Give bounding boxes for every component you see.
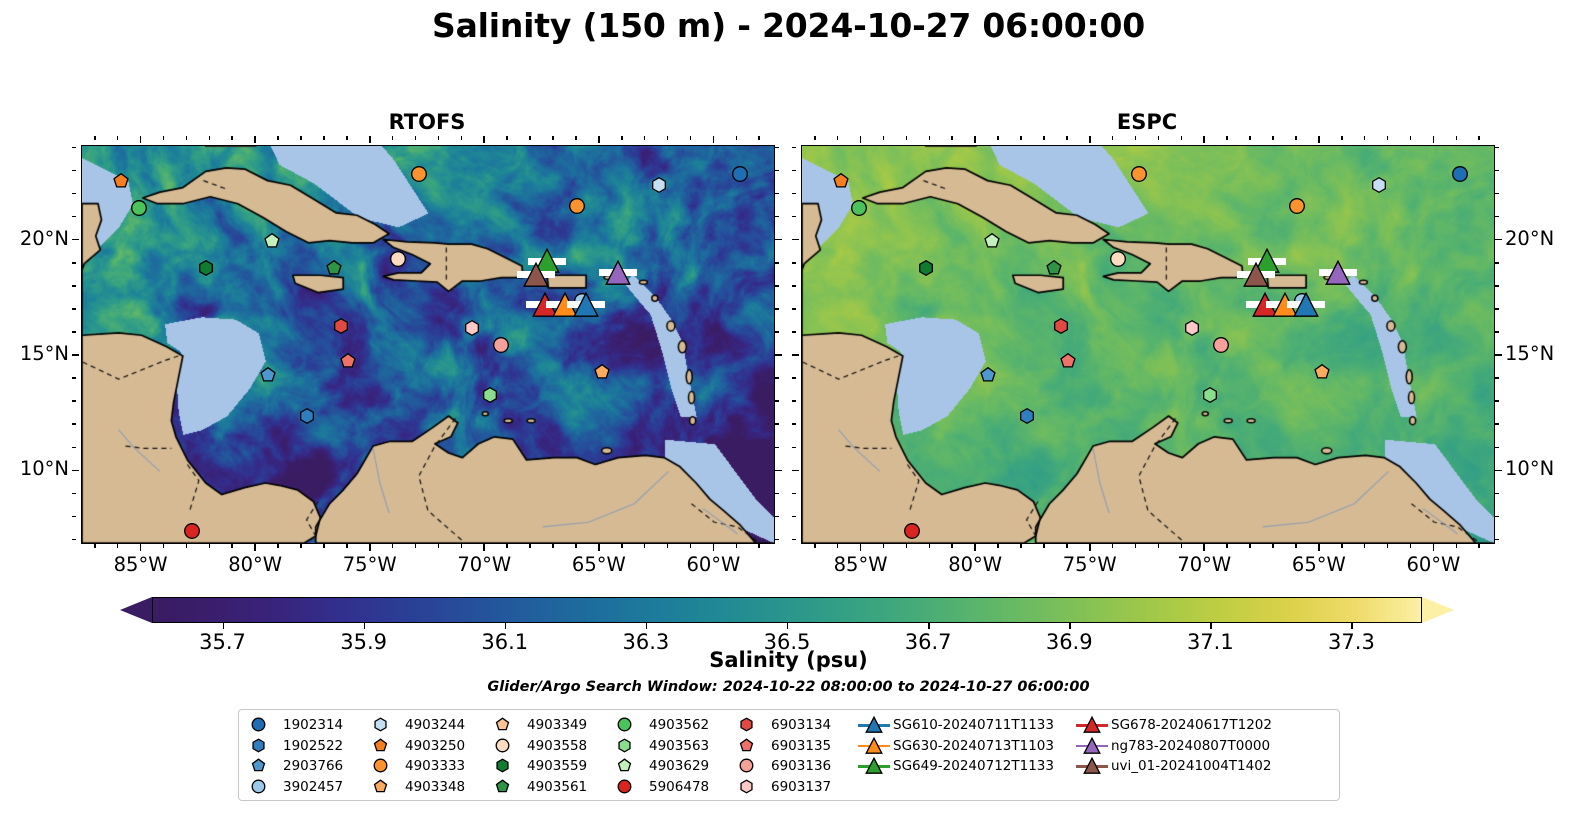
legend-item[interactable]: 4903561 [491, 777, 613, 798]
argo-marker[interactable] [979, 366, 996, 383]
y-tick-rtofs [72, 400, 76, 402]
x-tick-espc [997, 544, 999, 548]
figure-title: Salinity (150 m) - 2024-10-27 06:00:00 [0, 6, 1577, 45]
y-tick-espc [792, 170, 796, 172]
legend-label: 4903348 [403, 779, 465, 795]
glider-marker[interactable] [1243, 262, 1269, 288]
legend-item[interactable]: 4903348 [369, 777, 491, 798]
x-tick-rtofs [598, 544, 600, 551]
x-tick-top-rtofs [552, 136, 554, 140]
y-tick-rtofs [72, 447, 76, 449]
glider-marker[interactable] [1325, 260, 1351, 286]
legend-item[interactable]: 4903629 [613, 756, 735, 777]
x-tick-rtofs [369, 544, 371, 551]
y-tick-rtofs [72, 423, 76, 425]
x-tick-top-rtofs [598, 136, 600, 143]
colorbar-tick [1351, 623, 1352, 629]
x-tick-top-rtofs [667, 136, 669, 140]
x-tick-label-rtofs: 65°W [554, 553, 644, 576]
x-tick-espc [1158, 544, 1160, 548]
y-tick-right-espc [1495, 285, 1499, 287]
panel-title-rtofs: RTOFS [81, 110, 773, 134]
x-tick-rtofs [575, 544, 577, 548]
y-tick-espc [792, 516, 796, 518]
argo-marker[interactable] [568, 198, 585, 215]
y-tick-rtofs [72, 516, 76, 518]
y-tick-espc [792, 400, 796, 402]
glider-marker[interactable] [573, 292, 599, 318]
y-tick-right-rtofs [775, 147, 779, 149]
legend-column: SG610-20240711T1133SG630-20240713T1103SG… [857, 715, 1075, 797]
y-tick-right-rtofs [775, 377, 779, 379]
legend-label: 4903349 [525, 717, 587, 733]
argo-legend-marker [491, 756, 525, 776]
y-tick-right-espc [1495, 331, 1499, 333]
x-tick-espc [951, 544, 953, 548]
y-tick-right-espc [1495, 400, 1499, 402]
y-tick-espc [792, 354, 799, 356]
argo-legend-marker [491, 777, 525, 797]
x-tick-rtofs [713, 544, 715, 551]
x-tick-espc [1410, 544, 1412, 548]
legend-label: ng783-20240807T0000 [1109, 738, 1270, 754]
x-tick-rtofs [300, 544, 302, 548]
x-tick-rtofs [690, 544, 692, 548]
legend-label: SG649-20240712T1133 [891, 758, 1054, 774]
x-tick-label-rtofs: 60°W [668, 553, 758, 576]
legend-label: uvi_01-20241004T1402 [1109, 758, 1271, 774]
legend-label: SG610-20240711T1133 [891, 717, 1054, 733]
x-tick-espc [860, 544, 862, 551]
x-tick-top-rtofs [300, 136, 302, 140]
y-tick-right-espc [1495, 516, 1499, 518]
argo-marker[interactable] [298, 408, 315, 425]
x-tick-top-espc [1112, 136, 1114, 140]
argo-legend-marker [491, 736, 525, 756]
y-tick-espc [792, 493, 796, 495]
x-tick-rtofs [231, 544, 233, 548]
legend-label: 1902314 [281, 717, 343, 733]
argo-legend-marker [735, 756, 769, 776]
x-tick-top-espc [837, 136, 839, 140]
argo-legend-marker [369, 777, 403, 797]
x-tick-top-rtofs [369, 136, 371, 143]
argo-legend-marker [613, 736, 647, 756]
y-tick-rtofs [72, 147, 76, 149]
legend-label: 1902522 [281, 738, 343, 754]
x-tick-top-espc [1043, 136, 1045, 140]
y-tick-label-espc: 15°N [1505, 342, 1554, 365]
legend-label: 4903629 [647, 758, 709, 774]
argo-marker[interactable] [1201, 387, 1218, 404]
y-tick-right-rtofs [775, 170, 779, 172]
y-tick-label-rtofs: 20°N [0, 227, 69, 250]
argo-marker[interactable] [410, 165, 427, 182]
x-tick-top-espc [1410, 136, 1412, 140]
x-tick-rtofs [644, 544, 646, 548]
x-tick-rtofs [186, 544, 188, 548]
y-tick-espc [792, 147, 796, 149]
x-tick-rtofs [667, 544, 669, 548]
legend-column: 4903349490355849035594903561 [491, 715, 613, 797]
y-tick-right-espc [1495, 423, 1499, 425]
x-tick-espc [1318, 544, 1320, 551]
x-tick-espc [1364, 544, 1366, 548]
argo-marker[interactable] [332, 318, 349, 335]
x-tick-label-rtofs: 70°W [439, 553, 529, 576]
argo-marker[interactable] [326, 260, 343, 277]
y-tick-label-espc: 20°N [1505, 227, 1554, 250]
legend-column: SG678-20240617T1202ng783-20240807T0000uv… [1075, 715, 1287, 797]
argo-marker[interactable] [112, 172, 129, 189]
argo-legend-marker [247, 777, 281, 797]
y-tick-rtofs [72, 377, 76, 379]
y-tick-espc [792, 285, 796, 287]
legend-item[interactable]: 6903134 [735, 715, 857, 736]
y-tick-espc [792, 331, 796, 333]
legend-label: 4903559 [525, 758, 587, 774]
y-tick-espc [792, 377, 796, 379]
colorbar[interactable]: 35.735.936.136.336.536.736.937.137.3 [120, 597, 1454, 623]
colorbar-tick [223, 623, 224, 629]
legend-item[interactable]: 5906478 [613, 777, 735, 798]
colorbar-tick [505, 623, 506, 629]
x-tick-rtofs [277, 544, 279, 548]
colorbar-tick [1069, 623, 1070, 629]
legend-label: 4903333 [403, 758, 465, 774]
x-tick-espc [883, 544, 885, 548]
glider-legend-marker [1075, 736, 1109, 756]
argo-marker[interactable] [339, 352, 356, 369]
legend-item[interactable]: ng783-20240807T0000 [1075, 736, 1287, 757]
legend-item[interactable]: 4903244 [369, 715, 491, 736]
legend-item[interactable]: 1902522 [247, 736, 369, 757]
y-tick-right-espc [1495, 170, 1499, 172]
map-panel-rtofs[interactable] [81, 145, 775, 544]
argo-legend-marker [491, 715, 525, 735]
glider-legend-marker [1075, 756, 1109, 776]
x-tick-espc [1020, 544, 1022, 548]
argo-legend-marker [247, 715, 281, 735]
map-panel-espc[interactable] [801, 145, 1495, 544]
y-tick-rtofs [72, 239, 79, 241]
x-tick-rtofs [552, 544, 554, 548]
legend-item[interactable]: 4903250 [369, 736, 491, 757]
y-tick-right-rtofs [775, 262, 779, 264]
argo-marker[interactable] [1314, 364, 1331, 381]
legend-item[interactable]: 3902457 [247, 777, 369, 798]
y-tick-rtofs [72, 354, 79, 356]
y-tick-right-espc [1495, 262, 1499, 264]
x-tick-top-rtofs [415, 136, 417, 140]
legend-label: 4903250 [403, 738, 465, 754]
glider-legend-marker [1075, 715, 1109, 735]
x-tick-label-espc: 70°W [1159, 553, 1249, 576]
legend-label: 4903563 [647, 738, 709, 754]
argo-marker[interactable] [851, 200, 868, 217]
legend-item[interactable]: 4903349 [491, 715, 613, 736]
x-tick-top-rtofs [644, 136, 646, 140]
x-tick-label-espc: 75°W [1045, 553, 1135, 576]
x-tick-rtofs [323, 544, 325, 548]
argo-marker[interactable] [1183, 320, 1200, 337]
legend-item[interactable]: 6903135 [735, 736, 857, 757]
legend-item[interactable]: 4903562 [613, 715, 735, 736]
x-tick-espc [837, 544, 839, 548]
y-tick-right-rtofs [775, 354, 782, 356]
x-tick-rtofs [117, 544, 119, 548]
x-tick-top-espc [1387, 136, 1389, 140]
glider-marker[interactable] [523, 262, 549, 288]
x-tick-top-rtofs [736, 136, 738, 140]
y-tick-right-espc [1495, 216, 1499, 218]
argo-marker[interactable] [1371, 177, 1388, 194]
legend-label: 4903558 [525, 738, 587, 754]
argo-marker[interactable] [264, 232, 281, 249]
x-tick-top-espc [929, 136, 931, 140]
y-tick-right-espc [1495, 193, 1499, 195]
glider-marker[interactable] [1293, 292, 1319, 318]
legend-item[interactable]: uvi_01-20241004T1402 [1075, 756, 1287, 777]
x-tick-top-rtofs [323, 136, 325, 140]
x-tick-top-rtofs [758, 136, 760, 140]
search-window-subtitle: Glider/Argo Search Window: 2024-10-22 08… [0, 679, 1577, 695]
x-tick-top-espc [1089, 136, 1091, 143]
y-tick-espc [792, 239, 799, 241]
y-tick-right-rtofs [775, 493, 779, 495]
argo-marker[interactable] [481, 387, 498, 404]
y-tick-rtofs [72, 470, 79, 472]
legend-item[interactable]: 1902314 [247, 715, 369, 736]
x-tick-label-rtofs: 80°W [210, 553, 300, 576]
x-tick-rtofs [392, 544, 394, 548]
argo-marker[interactable] [832, 172, 849, 189]
glider-legend-marker [857, 736, 891, 756]
x-tick-top-rtofs [392, 136, 394, 140]
legend-item[interactable]: 2903766 [247, 756, 369, 777]
x-tick-rtofs [163, 544, 165, 548]
argo-marker[interactable] [1046, 260, 1063, 277]
legend-label: 4903561 [525, 779, 587, 795]
x-tick-espc [1135, 544, 1137, 548]
argo-marker[interactable] [903, 523, 920, 540]
x-tick-rtofs [254, 544, 256, 551]
x-tick-espc [1181, 544, 1183, 548]
legend-item[interactable]: 6903137 [735, 777, 857, 798]
y-tick-right-espc [1495, 493, 1499, 495]
x-tick-top-espc [997, 136, 999, 140]
glider-legend-marker [857, 756, 891, 776]
legend-label: 4903244 [403, 717, 465, 733]
colorbar-extend-low [120, 597, 152, 623]
argo-legend-marker [613, 756, 647, 776]
argo-legend-marker [369, 756, 403, 776]
x-tick-label-rtofs: 75°W [325, 553, 415, 576]
y-tick-rtofs [72, 170, 76, 172]
legend-item[interactable]: SG678-20240617T1202 [1075, 715, 1287, 736]
y-tick-right-rtofs [775, 516, 779, 518]
x-tick-top-rtofs [117, 136, 119, 140]
x-tick-top-espc [1364, 136, 1366, 140]
salinity-field [82, 146, 774, 543]
legend-item[interactable]: 4903558 [491, 736, 613, 757]
y-tick-right-rtofs [775, 239, 782, 241]
x-tick-top-espc [1020, 136, 1022, 140]
colorbar-tick [1210, 623, 1211, 629]
y-tick-rtofs [72, 331, 76, 333]
argo-marker[interactable] [183, 523, 200, 540]
legend-item[interactable]: 6903136 [735, 756, 857, 777]
argo-marker[interactable] [197, 260, 214, 277]
glider-marker[interactable] [605, 260, 631, 286]
x-tick-top-espc [1181, 136, 1183, 140]
x-tick-top-rtofs [163, 136, 165, 140]
x-tick-top-espc [1203, 136, 1205, 143]
argo-marker[interactable] [1110, 251, 1127, 268]
y-tick-right-rtofs [775, 216, 779, 218]
y-tick-right-espc [1495, 239, 1502, 241]
colorbar-extend-high [1422, 597, 1454, 623]
y-tick-espc [792, 539, 796, 541]
x-tick-top-espc [1249, 136, 1251, 140]
legend-item[interactable]: SG630-20240713T1103 [857, 736, 1075, 757]
argo-marker[interactable] [390, 251, 407, 268]
x-tick-top-rtofs [621, 136, 623, 140]
x-tick-top-espc [1158, 136, 1160, 140]
x-tick-top-rtofs [438, 136, 440, 140]
y-tick-right-rtofs [775, 308, 779, 310]
x-tick-label-rtofs: 85°W [96, 553, 186, 576]
x-tick-espc [1341, 544, 1343, 548]
x-tick-rtofs [94, 544, 96, 548]
y-tick-right-espc [1495, 354, 1502, 356]
y-tick-right-espc [1495, 147, 1499, 149]
legend-label: 6903135 [769, 738, 831, 754]
y-tick-right-rtofs [775, 331, 779, 333]
x-tick-espc [1249, 544, 1251, 548]
colorbar-gradient [152, 597, 1422, 623]
colorbar-tick [787, 623, 788, 629]
x-tick-top-espc [951, 136, 953, 140]
legend-item[interactable]: SG649-20240712T1133 [857, 756, 1075, 777]
x-tick-espc [1112, 544, 1114, 548]
argo-marker[interactable] [1213, 336, 1230, 353]
argo-marker[interactable] [1130, 165, 1147, 182]
x-tick-rtofs [736, 544, 738, 548]
legend-label: SG678-20240617T1202 [1109, 717, 1272, 733]
y-tick-right-espc [1495, 470, 1502, 472]
x-tick-espc [814, 544, 816, 548]
y-tick-right-rtofs [775, 400, 779, 402]
x-tick-espc [1478, 544, 1480, 548]
x-tick-rtofs [140, 544, 142, 551]
y-tick-right-espc [1495, 539, 1499, 541]
legend-column: 4903562490356349036295906478 [613, 715, 735, 797]
x-tick-espc [1089, 544, 1091, 551]
argo-marker[interactable] [463, 320, 480, 337]
x-tick-top-rtofs [713, 136, 715, 143]
x-tick-espc [1295, 544, 1297, 548]
legend-label: SG630-20240713T1103 [891, 738, 1054, 754]
y-tick-right-rtofs [775, 539, 779, 541]
argo-marker[interactable] [1059, 352, 1076, 369]
argo-legend-marker [369, 736, 403, 756]
legend-item[interactable]: 4903563 [613, 736, 735, 757]
x-tick-espc [974, 544, 976, 551]
argo-legend-marker [735, 736, 769, 756]
argo-marker[interactable] [259, 366, 276, 383]
x-tick-rtofs [529, 544, 531, 548]
argo-marker[interactable] [651, 177, 668, 194]
x-tick-rtofs [346, 544, 348, 548]
x-tick-top-espc [814, 136, 816, 140]
x-tick-top-rtofs [529, 136, 531, 140]
x-tick-top-rtofs [506, 136, 508, 140]
x-tick-top-rtofs [254, 136, 256, 143]
argo-marker[interactable] [984, 232, 1001, 249]
legend-item[interactable]: SG610-20240711T1133 [857, 715, 1075, 736]
argo-marker[interactable] [731, 165, 748, 182]
x-tick-top-rtofs [690, 136, 692, 140]
y-tick-rtofs [72, 539, 76, 541]
x-tick-rtofs [758, 544, 760, 548]
y-tick-rtofs [72, 285, 76, 287]
argo-marker[interactable] [1018, 408, 1035, 425]
argo-marker[interactable] [131, 200, 148, 217]
panel-title-espc: ESPC [801, 110, 1493, 134]
x-tick-label-espc: 85°W [816, 553, 906, 576]
y-tick-rtofs [72, 193, 76, 195]
salinity-field [802, 146, 1494, 543]
x-tick-top-rtofs [209, 136, 211, 140]
argo-legend-marker [247, 756, 281, 776]
glider-legend-marker [857, 715, 891, 735]
argo-marker[interactable] [1288, 198, 1305, 215]
y-tick-label-rtofs: 10°N [0, 457, 69, 480]
argo-marker[interactable] [917, 260, 934, 277]
y-tick-right-rtofs [775, 447, 779, 449]
x-tick-top-rtofs [346, 136, 348, 140]
x-tick-top-espc [1226, 136, 1228, 140]
argo-marker[interactable] [493, 336, 510, 353]
x-tick-rtofs [209, 544, 211, 548]
y-tick-rtofs [72, 308, 76, 310]
y-tick-espc [792, 447, 796, 449]
argo-legend-marker [613, 777, 647, 797]
argo-marker[interactable] [1451, 165, 1468, 182]
y-tick-rtofs [72, 216, 76, 218]
x-tick-top-rtofs [277, 136, 279, 140]
argo-marker[interactable] [594, 364, 611, 381]
y-tick-espc [792, 423, 796, 425]
x-tick-top-rtofs [186, 136, 188, 140]
legend-item[interactable]: 4903333 [369, 756, 491, 777]
x-tick-espc [1226, 544, 1228, 548]
y-tick-rtofs [72, 493, 76, 495]
y-tick-label-espc: 10°N [1505, 457, 1554, 480]
legend-item[interactable]: 4903559 [491, 756, 613, 777]
legend-label: 6903134 [769, 717, 831, 733]
argo-legend-marker [613, 715, 647, 735]
x-tick-rtofs [415, 544, 417, 548]
x-tick-espc [1203, 544, 1205, 551]
y-tick-espc [792, 308, 796, 310]
argo-marker[interactable] [1052, 318, 1069, 335]
colorbar-tick [928, 623, 929, 629]
legend[interactable]: 1902314190252229037663902457490324449032… [238, 709, 1340, 801]
y-tick-espc [792, 193, 796, 195]
y-tick-right-rtofs [775, 285, 779, 287]
